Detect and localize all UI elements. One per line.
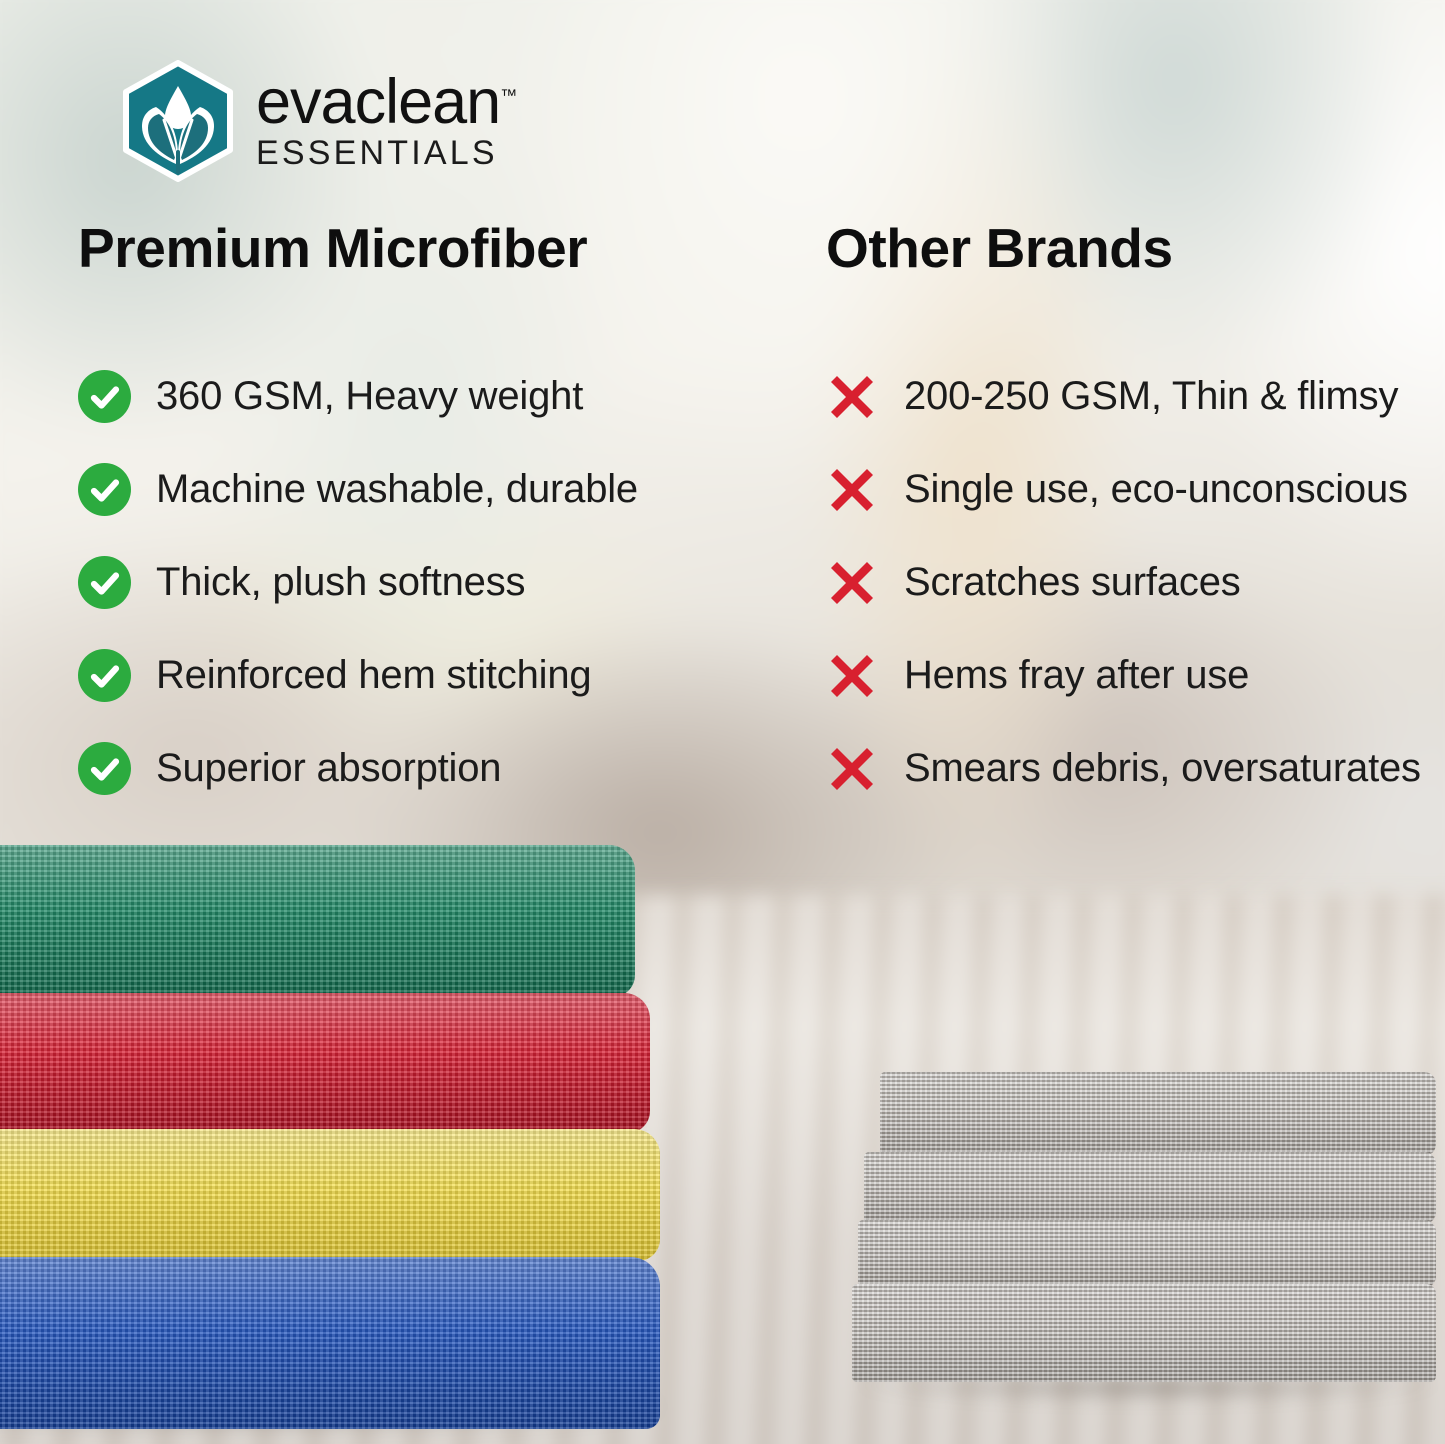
list-item: Reinforced hem stitching [78, 629, 778, 722]
brand-wordmark-text: evaclean [256, 67, 500, 137]
list-item-label: Single use, eco-unconscious [904, 467, 1408, 512]
towel-blue [0, 1257, 660, 1429]
list-item-label: Thick, plush softness [156, 560, 525, 605]
towel-green [0, 845, 635, 997]
feature-list-premium: 360 GSM, Heavy weight Machine washable, … [78, 350, 778, 815]
list-item-label: 200-250 GSM, Thin & flimsy [904, 374, 1398, 419]
other-brand-towel-stack [852, 1072, 1436, 1392]
list-item: Hems fray after use [826, 629, 1426, 722]
towel-red [0, 993, 650, 1133]
feature-list-other-brands: 200-250 GSM, Thin & flimsy Single use, e… [826, 350, 1426, 815]
green-check-circle-icon [78, 556, 156, 609]
list-item-label: Scratches surfaces [904, 560, 1241, 605]
list-item: Scratches surfaces [826, 536, 1426, 629]
towel-gray [852, 1284, 1436, 1382]
list-item-label: Machine washable, durable [156, 467, 638, 512]
list-item: Thick, plush softness [78, 536, 778, 629]
list-item-label: Smears debris, oversaturates [904, 746, 1421, 791]
red-x-icon [826, 650, 904, 702]
list-item: Smears debris, oversaturates [826, 722, 1426, 815]
brand-subwordmark: ESSENTIALS [256, 134, 517, 173]
towel-gray [880, 1072, 1436, 1156]
list-item-label: Reinforced hem stitching [156, 653, 591, 698]
red-x-icon [826, 557, 904, 609]
column-title-premium: Premium Microfiber [78, 216, 778, 280]
list-item: Machine washable, durable [78, 443, 778, 536]
green-check-circle-icon [78, 649, 156, 702]
brand-wordmark-group: evaclean™ ESSENTIALS [256, 69, 517, 174]
green-check-circle-icon [78, 463, 156, 516]
list-item-label: 360 GSM, Heavy weight [156, 374, 583, 419]
list-item: 200-250 GSM, Thin & flimsy [826, 350, 1426, 443]
trademark-symbol: ™ [500, 86, 517, 105]
column-title-other-brands: Other Brands [826, 216, 1426, 280]
brand-logo: evaclean™ ESSENTIALS [118, 60, 517, 182]
brand-wordmark: evaclean™ [256, 73, 517, 133]
column-premium-microfiber: Premium Microfiber 360 GSM, Heavy weight… [78, 216, 778, 815]
towel-yellow [0, 1129, 660, 1261]
towel-gray [858, 1220, 1436, 1288]
red-x-icon [826, 371, 904, 423]
red-x-icon [826, 743, 904, 795]
green-check-circle-icon [78, 370, 156, 423]
list-item: Single use, eco-unconscious [826, 443, 1426, 536]
towel-gray [864, 1152, 1436, 1224]
green-check-circle-icon [78, 742, 156, 795]
list-item: 360 GSM, Heavy weight [78, 350, 778, 443]
list-item: Superior absorption [78, 722, 778, 815]
red-x-icon [826, 464, 904, 516]
column-other-brands: Other Brands 200-250 GSM, Thin & flimsy … [826, 216, 1426, 815]
list-item-label: Superior absorption [156, 746, 501, 791]
list-item-label: Hems fray after use [904, 653, 1249, 698]
premium-microfiber-towel-stack [0, 845, 660, 1405]
hexagon-leaf-droplet-icon [118, 60, 238, 182]
